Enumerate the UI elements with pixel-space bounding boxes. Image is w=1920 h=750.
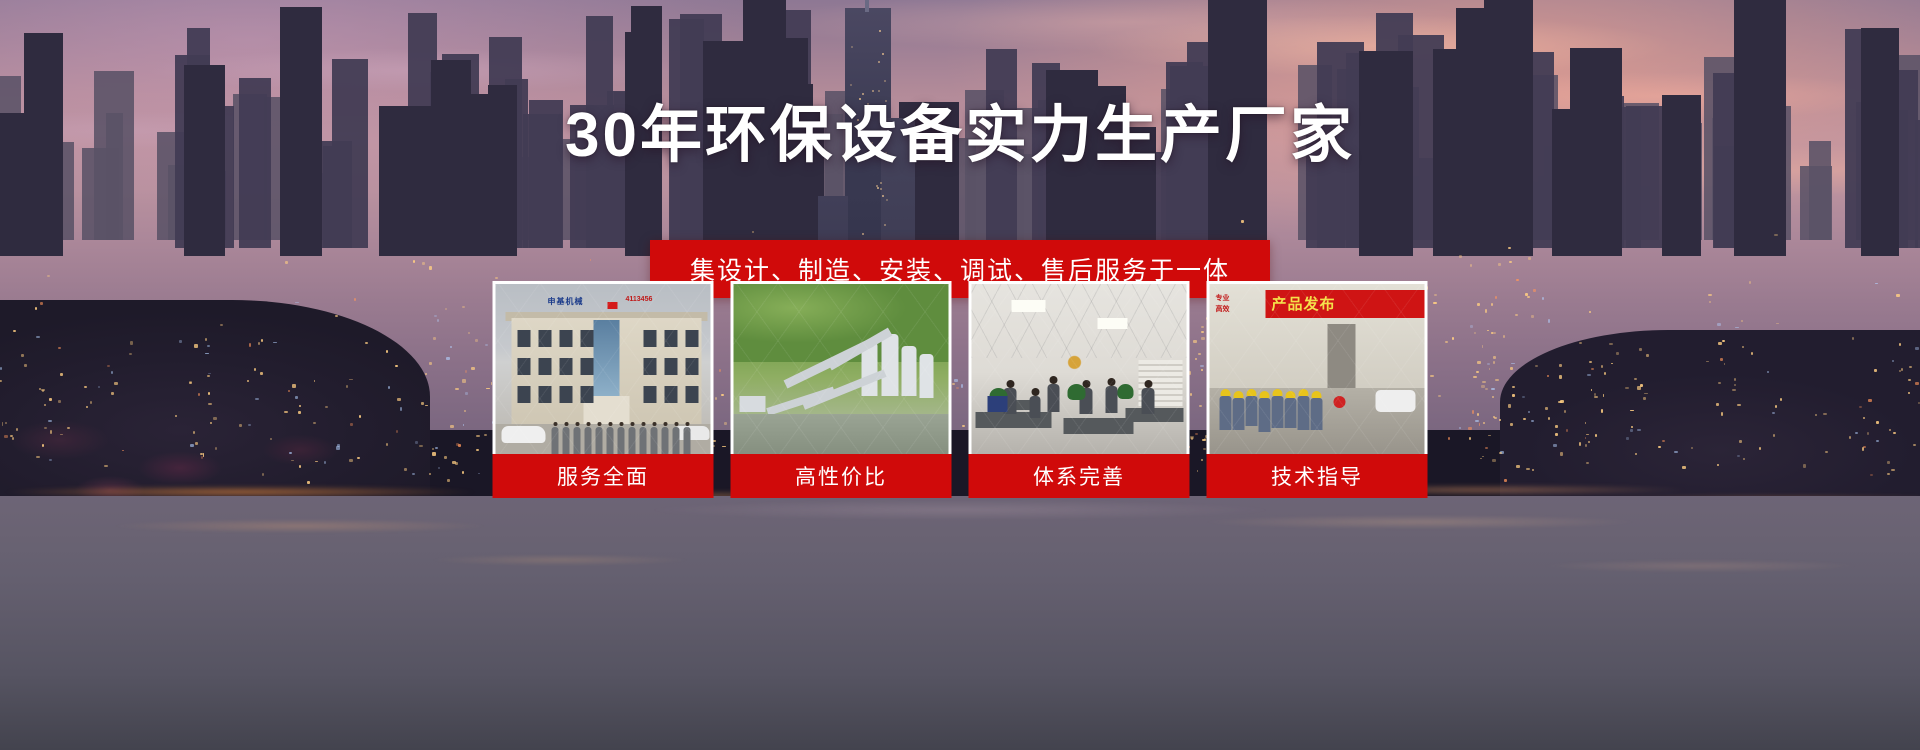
page-title: 30年环保设备实力生产厂家 — [0, 100, 1920, 171]
card-image-plant-aerial — [731, 281, 952, 454]
workshop-banner-text: 产品发布 — [1272, 293, 1336, 314]
card-label: 体系完善 — [969, 454, 1190, 498]
water-reflections — [0, 496, 1920, 656]
flag-icon — [608, 302, 618, 309]
card-image-office-building: 申基机械 4113456 — [493, 281, 714, 454]
red-helmet-icon — [1334, 396, 1346, 408]
card-label: 服务全面 — [493, 454, 714, 498]
feature-card[interactable]: 产品发布 专业高效 技术指导 — [1207, 281, 1428, 498]
feature-card-list: 申基机械 4113456 服务全面 — [493, 281, 1428, 498]
wall-logo-icon — [1058, 352, 1092, 378]
feature-card[interactable]: 申基机械 4113456 服务全面 — [493, 281, 714, 498]
feature-card[interactable]: 体系完善 — [969, 281, 1190, 498]
card-image-office-interior — [969, 281, 1190, 454]
feature-card[interactable]: 高性价比 — [731, 281, 952, 498]
card-label: 技术指导 — [1207, 454, 1428, 498]
workshop-side-text: 专业高效 — [1216, 294, 1230, 315]
hero-banner: 30年环保设备实力生产厂家 集设计、制造、安装、调试、售后服务于一体 申基机械 … — [0, 0, 1920, 750]
card-image-workshop-workers: 产品发布 专业高效 — [1207, 281, 1428, 454]
building-sign-text: 申基机械 — [548, 296, 584, 307]
card-label: 高性价比 — [731, 454, 952, 498]
building-phone-text: 4113456 — [626, 296, 653, 303]
